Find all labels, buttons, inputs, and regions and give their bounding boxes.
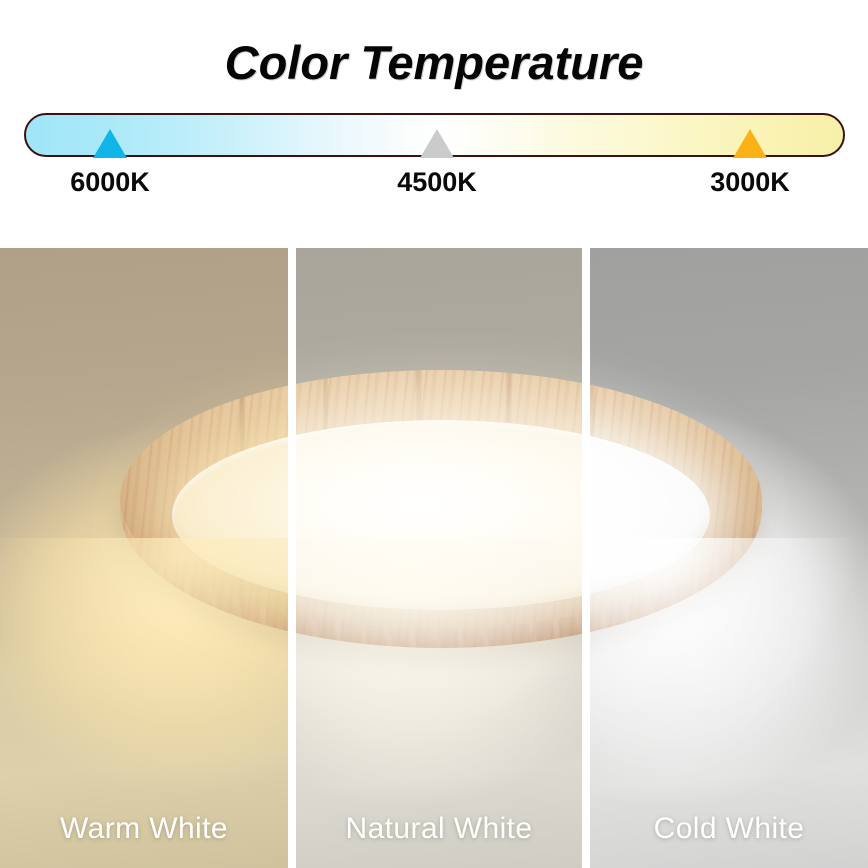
panel-natural-white: Natural White <box>296 248 582 868</box>
header-section: Color Temperature 6000K 4500K 3000K <box>0 0 868 248</box>
panel-divider-2 <box>582 248 590 868</box>
scale-label-6000k: 6000K <box>20 167 200 198</box>
panel-caption-natural-white: Natural White <box>296 812 582 846</box>
scale-label-3000k: 3000K <box>660 167 840 198</box>
panel-divider-1 <box>288 248 296 868</box>
product-comparison-photo: Warm White Natural White <box>0 248 868 868</box>
panel-warm-white: Warm White <box>0 248 288 868</box>
marker-6000k-icon <box>93 129 127 158</box>
panel-cold-white: Cold White <box>590 248 868 868</box>
page-title: Color Temperature <box>0 35 868 90</box>
panel-caption-cold-white: Cold White <box>590 812 868 846</box>
scale-label-4500k: 4500K <box>347 167 527 198</box>
panel-caption-warm-white: Warm White <box>0 812 288 846</box>
color-temperature-infographic: Color Temperature 6000K 4500K 3000K <box>0 0 868 868</box>
marker-3000k-icon <box>733 129 767 158</box>
marker-4500k-icon <box>420 129 454 158</box>
